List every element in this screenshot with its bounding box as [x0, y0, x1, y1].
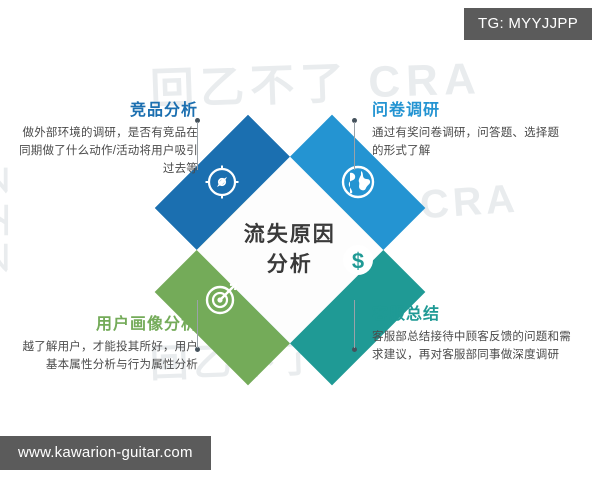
center-label-line2: 分析	[244, 250, 336, 280]
label-title-questionnaire: 问卷调研	[372, 96, 562, 120]
tag-badge: TG: MYYJJPP	[464, 8, 592, 40]
dollar-icon: $	[338, 240, 378, 280]
label-body-questionnaire: 通过有奖问卷调研，问答题、选择题的形式了解	[372, 125, 562, 161]
connector-stem	[354, 122, 355, 170]
compass-icon	[202, 162, 242, 202]
label-block-competitor: 竞品分析 做外部环境的调研，是否有竞品在同期做了什么动作/活动将用户吸引过去等	[18, 96, 198, 178]
center-label: 流失原因 分析	[244, 220, 336, 281]
label-title-customer-service: 客服总结	[372, 300, 572, 324]
connector-stem	[354, 300, 355, 348]
label-body-customer-service: 客服部总结接待中顾客反馈的问题和需求建议，再对客服部同事做深度调研	[372, 329, 572, 365]
label-block-user-profile: 用户画像分析 越了解用户，才能投其所好，用户基本属性分析与行为属性分析	[18, 310, 198, 375]
svg-text:$: $	[352, 249, 364, 274]
label-body-user-profile: 越了解用户，才能投其所好，用户基本属性分析与行为属性分析	[18, 339, 198, 375]
label-body-competitor: 做外部环境的调研，是否有竞品在同期做了什么动作/活动将用户吸引过去等	[18, 125, 198, 178]
slide-canvas: 回乙不了 CRA CRA 回乙不了 乙不了 TG: MYYJJPP 流失原因 分…	[0, 0, 600, 480]
label-block-questionnaire: 问卷调研 通过有奖问卷调研，问答题、选择题的形式了解	[372, 96, 562, 161]
watermark-text: CRA	[419, 177, 521, 229]
label-block-customer-service: 客服总结 客服部总结接待中顾客反馈的问题和需求建议，再对客服部同事做深度调研	[372, 300, 572, 365]
url-badge: www.kawarion-guitar.com	[0, 436, 211, 470]
label-title-user-profile: 用户画像分析	[18, 310, 198, 334]
globe-icon	[338, 162, 378, 202]
center-label-line1: 流失原因	[244, 220, 336, 250]
watermark-text: 乙不了	[0, 165, 20, 279]
target-icon	[202, 278, 242, 318]
label-title-competitor: 竞品分析	[18, 96, 198, 120]
